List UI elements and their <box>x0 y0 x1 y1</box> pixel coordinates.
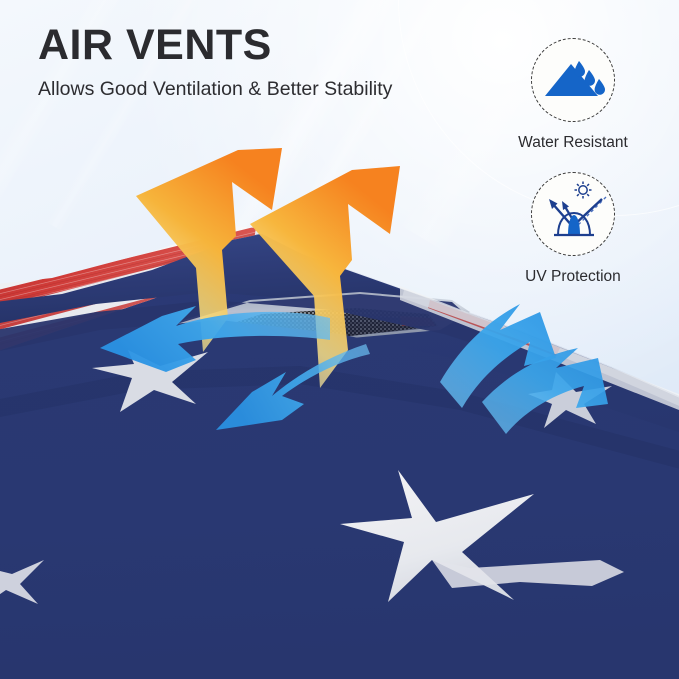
page-subtitle: Allows Good Ventilation & Better Stabili… <box>38 76 508 102</box>
heading-block: AIR VENTS Allows Good Ventilation & Bett… <box>38 20 508 102</box>
water-droplet <box>595 79 605 95</box>
canopy-dome-fill <box>568 215 580 235</box>
air-flow-arrow-down-left <box>216 344 370 430</box>
sun-icon <box>575 182 592 199</box>
page-title: AIR VENTS <box>38 20 508 70</box>
water-droplet <box>585 70 595 86</box>
uv-protection-icon <box>532 173 616 257</box>
incoming-ray-dashed <box>578 197 606 225</box>
feature-badge-water-resistant: Water Resistant <box>481 38 665 153</box>
badge-label: Water Resistant <box>481 133 665 153</box>
water-resistant-icon <box>532 39 616 123</box>
badge-disc <box>531 38 615 122</box>
water-droplet <box>575 61 585 77</box>
badge-label: UV Protection <box>481 267 665 287</box>
feature-badge-uv-protection: UV Protection <box>481 172 665 287</box>
badge-disc <box>531 172 615 256</box>
infographic-canvas: AIR VENTS Allows Good Ventilation & Bett… <box>0 0 679 679</box>
